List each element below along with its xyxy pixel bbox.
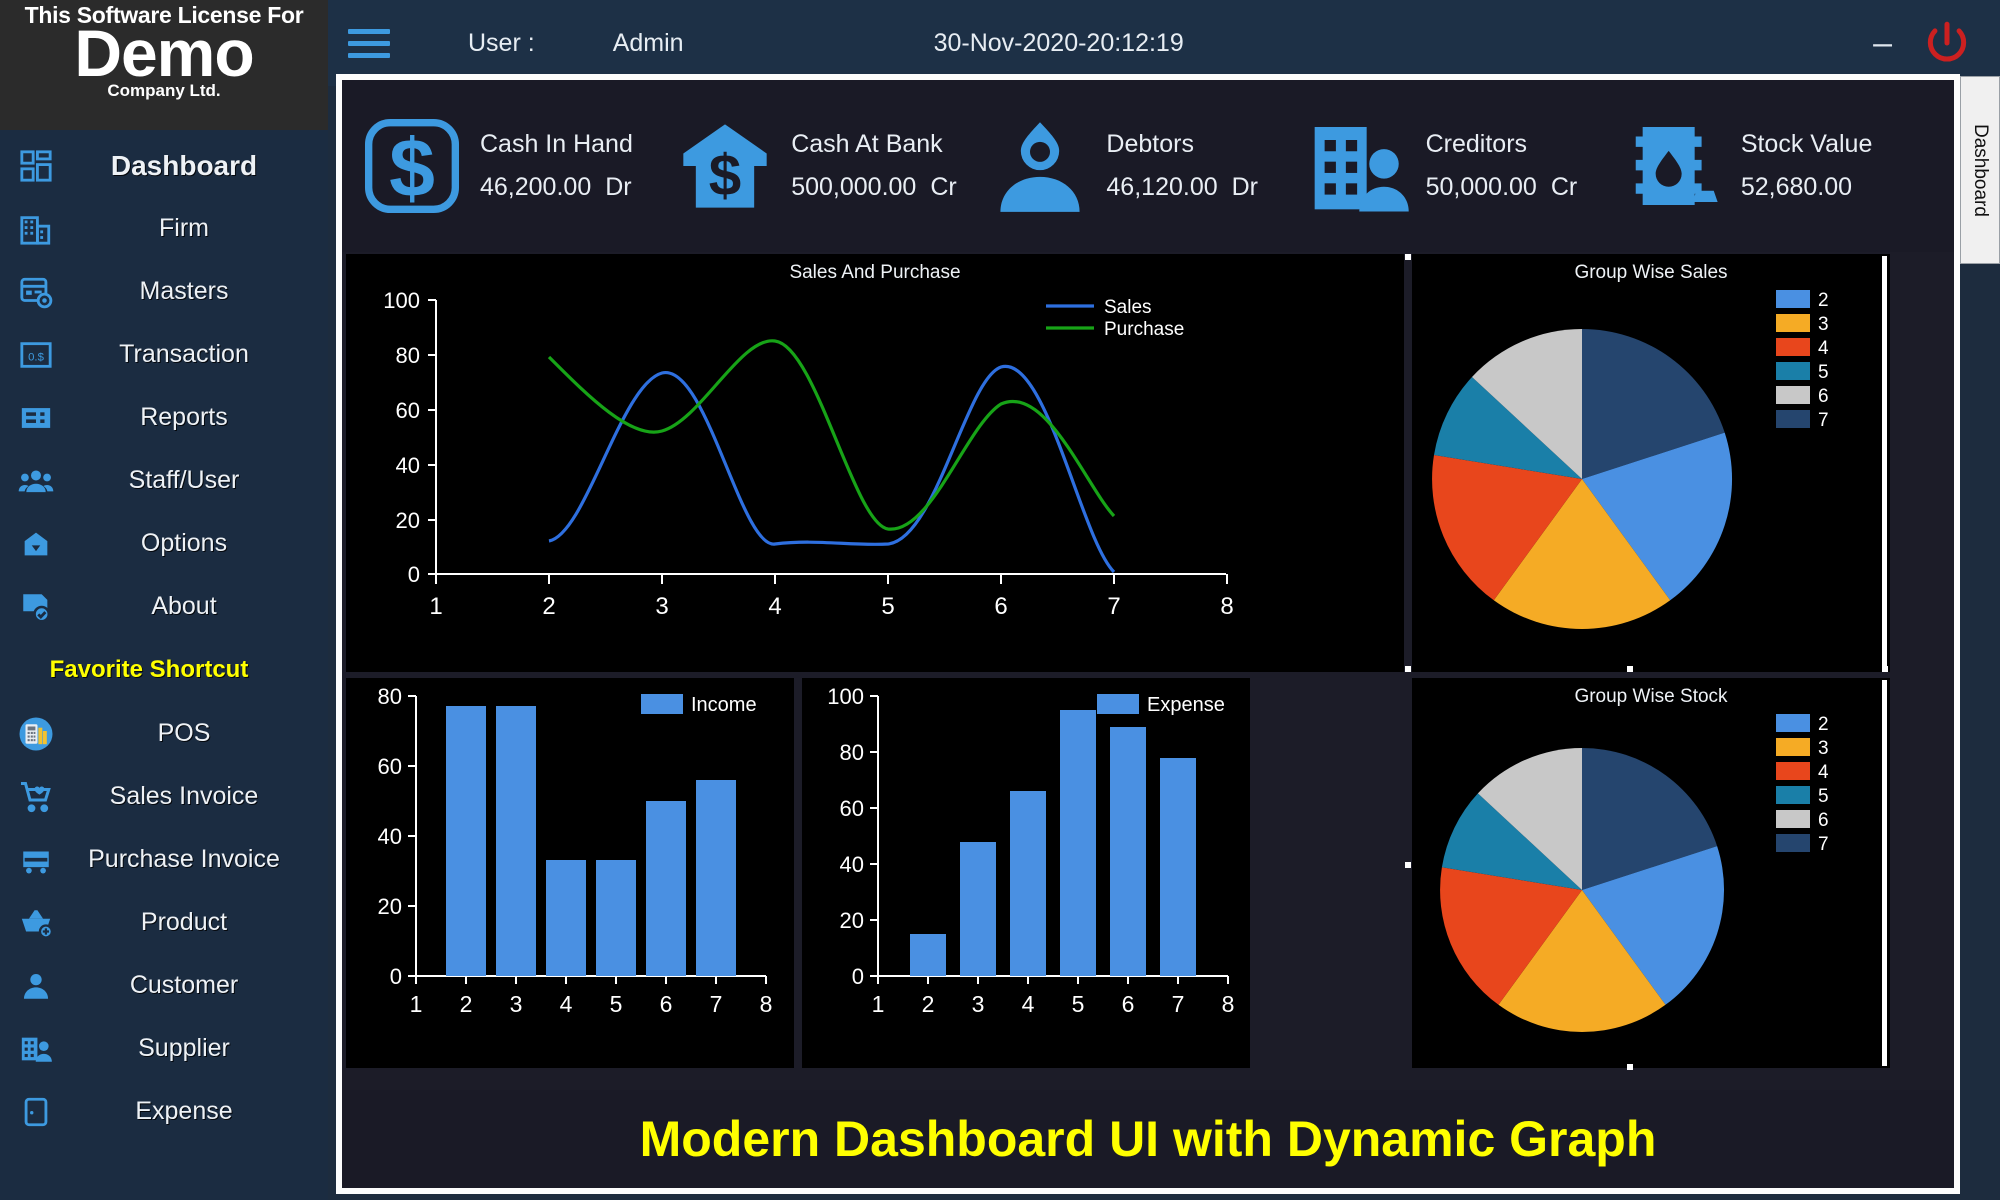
user-label: User :: [468, 29, 535, 58]
sidebar-item-label: Expense: [72, 1097, 328, 1126]
svg-text:3: 3: [655, 593, 668, 620]
svg-text:1: 1: [410, 991, 423, 1017]
svg-text:0: 0: [408, 562, 420, 587]
svg-text:0: 0: [852, 964, 864, 989]
debtor-person-icon: [990, 116, 1090, 216]
svg-text:80: 80: [378, 684, 402, 709]
svg-text:1: 1: [872, 991, 885, 1017]
options-home-icon: [0, 527, 72, 561]
sidebar-item-label: Staff/User: [72, 466, 328, 495]
sidebar-item-dashboard[interactable]: Dashboard: [0, 134, 328, 197]
svg-text:Expense: Expense: [1147, 694, 1225, 716]
svg-text:6: 6: [660, 991, 673, 1017]
chart-legend: Expense: [1097, 694, 1225, 716]
shopping-cart-heart-icon: [0, 779, 72, 815]
sidebar-item-pos[interactable]: POS: [0, 702, 328, 765]
splitter-grip[interactable]: [1405, 254, 1411, 260]
kpi-value: 50,000.00: [1426, 173, 1537, 201]
about-check-icon: [0, 590, 72, 624]
svg-text:5: 5: [610, 991, 623, 1017]
brand-company-suffix: Company Ltd.: [107, 81, 220, 101]
bottom-banner: Modern Dashboard UI with Dynamic Graph: [342, 1090, 1954, 1188]
svg-text:5: 5: [1072, 991, 1085, 1017]
sidebar-item-label: POS: [72, 719, 328, 748]
sidebar-item-label: Masters: [72, 277, 328, 306]
kpi-debtors[interactable]: Debtors 46,120.00Dr: [990, 116, 1305, 216]
svg-text:7: 7: [1818, 410, 1829, 431]
chart-title: Group Wise Stock: [1412, 686, 1890, 708]
svg-text:60: 60: [378, 754, 402, 779]
bar-chart-income-svg: 80 60 40 20 0: [346, 678, 794, 1068]
kpi-strip: $ Cash In Hand 46,200.00Dr $ Cash At Ban…: [342, 80, 1954, 252]
bank-dollar-icon: $: [675, 116, 775, 216]
kpi-suffix: Cr: [1551, 173, 1577, 201]
chart-legend: Income: [641, 694, 757, 716]
chart-legend: 2 3 4 5 6 7: [1776, 714, 1829, 855]
dashboard-grid-icon: [0, 149, 72, 183]
svg-text:2: 2: [922, 991, 935, 1017]
money-note-icon: 0.$: [0, 338, 72, 372]
pos-terminal-icon: [0, 716, 72, 752]
kpi-title: Cash At Bank: [791, 130, 957, 159]
sidebar-item-transaction[interactable]: 0.$ Transaction: [0, 323, 328, 386]
svg-text:$: $: [389, 122, 435, 214]
svg-text:3: 3: [972, 991, 985, 1017]
sidebar: This Software License For Demo Company L…: [0, 0, 328, 1200]
chart-title: Group Wise Sales: [1412, 262, 1890, 284]
person-icon: [0, 969, 72, 1003]
pie-chart-sales-svg: 2 3 4 5 6 7: [1412, 254, 1890, 672]
sidebar-item-firm[interactable]: Firm: [0, 197, 328, 260]
side-tab-label: Dashboard: [1969, 124, 1991, 217]
kpi-value: 46,200.00: [480, 173, 591, 201]
svg-text:3: 3: [1818, 314, 1829, 335]
svg-text:40: 40: [840, 852, 864, 877]
svg-text:6: 6: [1818, 810, 1829, 831]
svg-text:3: 3: [510, 991, 523, 1017]
chart-panel-income[interactable]: 80 60 40 20 0: [346, 678, 794, 1068]
kpi-cash-at-bank[interactable]: $ Cash At Bank 500,000.00Cr: [675, 116, 990, 216]
expense-door-icon: [0, 1095, 72, 1129]
app-window: This Software License For Demo Company L…: [0, 0, 2000, 1200]
svg-text:7: 7: [1107, 593, 1120, 620]
svg-text:4: 4: [1022, 991, 1035, 1017]
splitter-grip[interactable]: [1882, 666, 1888, 672]
sidebar-item-about[interactable]: About: [0, 575, 328, 638]
minimize-button[interactable]: –: [1843, 38, 1922, 48]
kpi-value: 46,120.00: [1106, 173, 1217, 201]
kpi-title: Cash In Hand: [480, 130, 633, 159]
svg-text:Purchase: Purchase: [1104, 319, 1184, 340]
svg-text:Sales: Sales: [1104, 297, 1152, 318]
sidebar-item-label: Transaction: [72, 340, 328, 369]
svg-text:40: 40: [378, 824, 402, 849]
svg-text:4: 4: [560, 991, 573, 1017]
sidebar-menu: Dashboard Firm Masters 0.$ Transaction: [0, 130, 328, 1143]
delivery-truck-icon: [0, 843, 72, 877]
sidebar-item-label: Supplier: [72, 1034, 328, 1063]
chart-panel-sales-and-purchase[interactable]: Sales And Purchase: [346, 254, 1404, 672]
svg-text:2: 2: [1818, 290, 1829, 311]
hamburger-icon[interactable]: [348, 22, 390, 65]
svg-text:0: 0: [390, 964, 402, 989]
svg-text:60: 60: [840, 796, 864, 821]
svg-text:7: 7: [1818, 834, 1829, 855]
sidebar-item-reports[interactable]: Reports: [0, 386, 328, 449]
svg-text:6: 6: [994, 593, 1007, 620]
svg-text:80: 80: [396, 343, 420, 368]
svg-text:Income: Income: [691, 694, 757, 716]
kpi-title: Stock Value: [1741, 130, 1873, 159]
sidebar-item-options[interactable]: Options: [0, 512, 328, 575]
bar-chart-expense-svg: 100 80 60 40 20 0: [802, 678, 1250, 1068]
svg-text:7: 7: [710, 991, 723, 1017]
report-list-icon: [0, 401, 72, 435]
chart-panel-group-wise-sales[interactable]: Group Wise Sales: [1412, 254, 1890, 672]
svg-text:20: 20: [396, 508, 420, 533]
dashboard-content: $ Cash In Hand 46,200.00Dr $ Cash At Ban…: [342, 80, 1954, 1188]
svg-text:8: 8: [760, 991, 773, 1017]
svg-text:5: 5: [1818, 786, 1829, 807]
dashboard-frame: $ Cash In Hand 46,200.00Dr $ Cash At Ban…: [336, 74, 1960, 1194]
sidebar-item-label: Dashboard: [72, 150, 328, 182]
svg-text:40: 40: [396, 453, 420, 478]
chart-legend: Sales Purchase: [1046, 297, 1184, 340]
supplier-person-icon: [0, 1032, 72, 1066]
svg-text:4: 4: [1818, 762, 1829, 783]
kpi-suffix: Dr: [1232, 173, 1258, 201]
kpi-title: Creditors: [1426, 130, 1578, 159]
svg-text:3: 3: [1818, 738, 1829, 759]
svg-text:2: 2: [542, 593, 555, 620]
svg-text:7: 7: [1172, 991, 1185, 1017]
user-name-value: Admin: [613, 29, 684, 58]
sidebar-item-label: Sales Invoice: [72, 782, 328, 811]
sidebar-item-purchase-invoice[interactable]: Purchase Invoice: [0, 828, 328, 891]
svg-text:5: 5: [881, 593, 894, 620]
splitter-grip[interactable]: [1405, 862, 1411, 868]
sidebar-item-label: Product: [72, 908, 328, 937]
splitter-grip[interactable]: [1405, 666, 1411, 672]
sidebar-item-label: Purchase Invoice: [72, 845, 328, 874]
favorite-shortcut-heading: Favorite Shortcut: [0, 638, 328, 702]
svg-text:60: 60: [396, 398, 420, 423]
kpi-title: Debtors: [1106, 130, 1258, 159]
datetime-display: 30-Nov-2020-20:12:19: [934, 29, 1184, 58]
sidebar-item-customer[interactable]: Customer: [0, 954, 328, 1017]
sidebar-item-expense[interactable]: Expense: [0, 1080, 328, 1143]
svg-text:20: 20: [378, 894, 402, 919]
svg-text:80: 80: [840, 740, 864, 765]
building-icon: [0, 212, 72, 246]
svg-text:2: 2: [1818, 714, 1829, 735]
sidebar-item-sales-invoice[interactable]: Sales Invoice: [0, 765, 328, 828]
kpi-creditors[interactable]: Creditors 50,000.00Cr: [1306, 114, 1621, 218]
panel-splitter-vertical[interactable]: [1882, 680, 1887, 1066]
chart-legend: 2 3 4 5 6 7: [1776, 290, 1829, 431]
svg-text:0.$: 0.$: [28, 351, 44, 363]
basket-plus-icon: [0, 906, 72, 940]
sidebar-item-product[interactable]: Product: [0, 891, 328, 954]
chart-title: Sales And Purchase: [346, 262, 1404, 284]
kpi-stock-value[interactable]: Stock Value 52,680.00: [1621, 114, 1936, 218]
sidebar-item-label: About: [72, 592, 328, 621]
kpi-value: 500,000.00: [791, 173, 916, 201]
pie-chart-stock-svg: 2 3 4 5 6 7: [1412, 678, 1890, 1068]
svg-text:8: 8: [1220, 593, 1233, 620]
chart-panel-expense[interactable]: 100 80 60 40 20 0: [802, 678, 1250, 1068]
sidebar-item-label: Firm: [72, 214, 328, 243]
kpi-suffix: Cr: [930, 173, 956, 201]
svg-text:6: 6: [1818, 386, 1829, 407]
svg-text:8: 8: [1222, 991, 1235, 1017]
svg-text:100: 100: [383, 288, 420, 313]
svg-text:20: 20: [840, 908, 864, 933]
users-group-icon: [0, 464, 72, 498]
splitter-grip[interactable]: [1627, 1064, 1633, 1070]
kpi-cash-in-hand[interactable]: $ Cash In Hand 46,200.00Dr: [360, 114, 675, 218]
side-tab-dashboard[interactable]: Dashboard: [1960, 76, 2000, 264]
kpi-value: 52,680.00: [1741, 173, 1852, 201]
power-icon[interactable]: [1922, 18, 1972, 68]
sidebar-item-supplier[interactable]: Supplier: [0, 1017, 328, 1080]
kpi-suffix: Dr: [605, 173, 631, 201]
line-chart-svg: 100 80 60 40 20 0: [346, 254, 1404, 672]
brand-logo: This Software License For Demo Company L…: [0, 0, 328, 130]
svg-text:4: 4: [768, 593, 781, 620]
creditor-building-person-icon: [1306, 114, 1410, 218]
stock-barrel-gold-icon: [1621, 114, 1725, 218]
splitter-grip[interactable]: [1627, 666, 1633, 672]
banner-text: Modern Dashboard UI with Dynamic Graph: [640, 1110, 1657, 1168]
masters-gear-icon: [0, 275, 72, 309]
sidebar-item-label: Customer: [72, 971, 328, 1000]
brand-company-name: Demo: [74, 24, 253, 82]
svg-text:$: $: [709, 143, 741, 208]
chart-panel-group-wise-stock[interactable]: Group Wise Stock 2 3: [1412, 678, 1890, 1068]
panel-splitter-vertical[interactable]: [1882, 256, 1887, 670]
svg-text:2: 2: [460, 991, 473, 1017]
svg-text:100: 100: [827, 684, 864, 709]
charts-container: Sales And Purchase: [342, 252, 1954, 1090]
sidebar-item-masters[interactable]: Masters: [0, 260, 328, 323]
svg-text:1: 1: [429, 593, 442, 620]
svg-text:4: 4: [1818, 338, 1829, 359]
sidebar-item-label: Reports: [72, 403, 328, 432]
sidebar-item-label: Options: [72, 529, 328, 558]
svg-text:5: 5: [1818, 362, 1829, 383]
dollar-rounded-square-icon: $: [360, 114, 464, 218]
sidebar-item-staff-user[interactable]: Staff/User: [0, 449, 328, 512]
svg-text:6: 6: [1122, 991, 1135, 1017]
